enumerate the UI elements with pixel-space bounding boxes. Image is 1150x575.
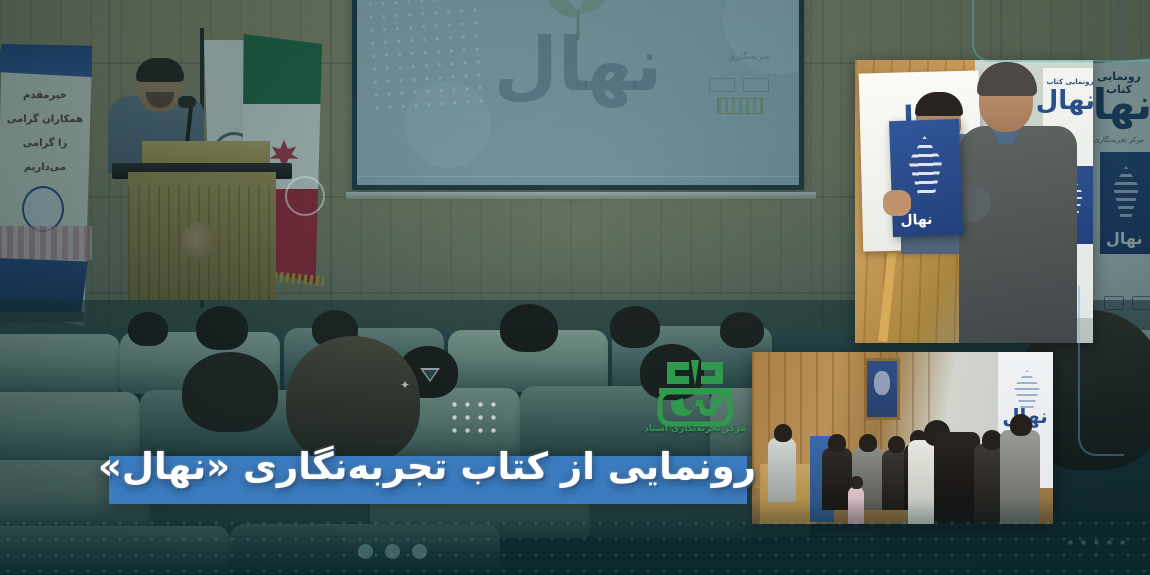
microphone-icon [178,96,196,108]
standee-left-line: خیرمقدم [2,84,88,108]
wheat-leaf-icon [908,135,944,198]
standee-right-line2: مرکز تجربه‌نگاری [1086,136,1150,144]
screen-footer-line [357,176,799,177]
audience-head [196,306,248,350]
open-book-logo-icon [647,356,743,428]
wall-seam-vertical [330,0,332,330]
organization-logo [647,356,743,452]
podium-speaker-hair [136,58,184,82]
inset2-child-head [850,476,863,489]
inset2-person-head [859,434,877,452]
projection-screen-content: نهال تجربه‌نگاری [357,0,799,185]
inset1-banner-small-text: رونمایی کتاب [1045,78,1093,86]
page-title: رونمایی از کتاب تجربه‌نگاری «نهال» [100,444,756,490]
standee-left-line: را گرامی [2,132,88,156]
screen-sponsor-logos [709,78,769,92]
inset2-person-head [1010,414,1032,436]
audience-head [720,312,764,348]
standee-left-line: می‌داریم [2,156,88,180]
organization-logo-caption: مرکز تجربه‌نگاری اسناد [634,424,756,434]
inset1-person-foreground-body [959,126,1077,343]
standee-right-title: نهال [1086,84,1150,126]
inset2-person-head [888,436,905,453]
inset-photo-stage-ceremony: نهال [752,352,1053,524]
screen-subtext: تجربه‌نگاری [729,52,771,62]
easel-leg [878,250,897,342]
inset2-person-head [982,430,1002,450]
inset2-person-head [828,434,846,452]
wall-seam-vertical [822,0,824,330]
inset2-child [848,486,864,524]
projection-screen: نهال تجربه‌نگاری [352,0,804,190]
seat [0,334,120,394]
audience-head [182,352,278,432]
screen-bottom-shelf [346,192,816,199]
audience-head [500,304,558,352]
seat [230,524,500,575]
inset1-book-cover [889,119,963,237]
standee-left-line: همکاران گرامی [2,108,88,132]
wall-portrait-frame [864,358,900,420]
audience-head [610,306,660,348]
standee-right-book-cover [1100,152,1150,254]
inset2-person [768,438,796,502]
podium-emblem-icon [182,222,216,260]
seat [0,526,230,575]
inset-photo-book-unveiling: رونمایی کتاب نهال نهال [855,60,1093,343]
standee-left-flower-border [0,226,92,260]
screen-barcode-decor [717,98,763,114]
poster-canvas: نهال تجربه‌نگاری خیرمقدم همکاران گرامی ر… [0,0,1150,575]
inset2-person-head [774,424,792,442]
inset1-hand [883,190,911,216]
inset2-person [1000,430,1040,524]
audience-head [128,312,168,346]
inset1-banner-title: نهال [1045,88,1093,114]
standee-left-text: خیرمقدم همکاران گرامی را گرامی می‌داریم [2,84,88,180]
